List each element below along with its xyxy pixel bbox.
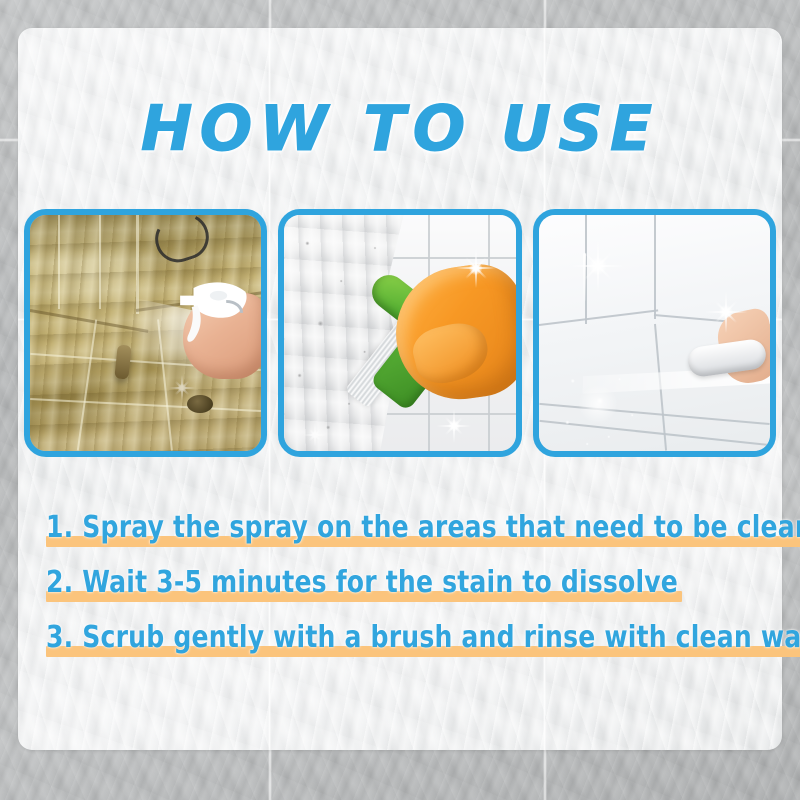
water-splash bbox=[553, 363, 643, 451]
instruction-step-2: 2. Wait 3-5 minutes for the stain to dis… bbox=[46, 555, 766, 610]
photo-step-3-image bbox=[539, 215, 770, 451]
instruction-step-3-text: 3. Scrub gently with a brush and rinse w… bbox=[46, 620, 800, 655]
photo-step-3 bbox=[533, 209, 776, 457]
instruction-step-2-text: 2. Wait 3-5 minutes for the stain to dis… bbox=[46, 565, 678, 600]
photo-step-2 bbox=[278, 209, 521, 457]
spray-bottle-icon bbox=[159, 263, 255, 359]
photo-step-1-image bbox=[30, 215, 261, 451]
instruction-list: 1. Spray the spray on the areas that nee… bbox=[46, 500, 766, 665]
page-title: HOW TO USE bbox=[0, 92, 800, 165]
poster-root: HOW TO USE bbox=[0, 0, 800, 800]
photo-strip bbox=[24, 209, 776, 457]
tile-seam bbox=[654, 215, 656, 319]
water-drip bbox=[583, 253, 586, 301]
instruction-step-1: 1. Spray the spray on the areas that nee… bbox=[46, 500, 766, 555]
instruction-step-1-text: 1. Spray the spray on the areas that nee… bbox=[46, 510, 800, 545]
tile-seam bbox=[58, 215, 60, 309]
instruction-step-3: 3. Scrub gently with a brush and rinse w… bbox=[46, 610, 766, 665]
photo-step-2-image bbox=[284, 215, 515, 451]
photo-step-1 bbox=[24, 209, 267, 457]
